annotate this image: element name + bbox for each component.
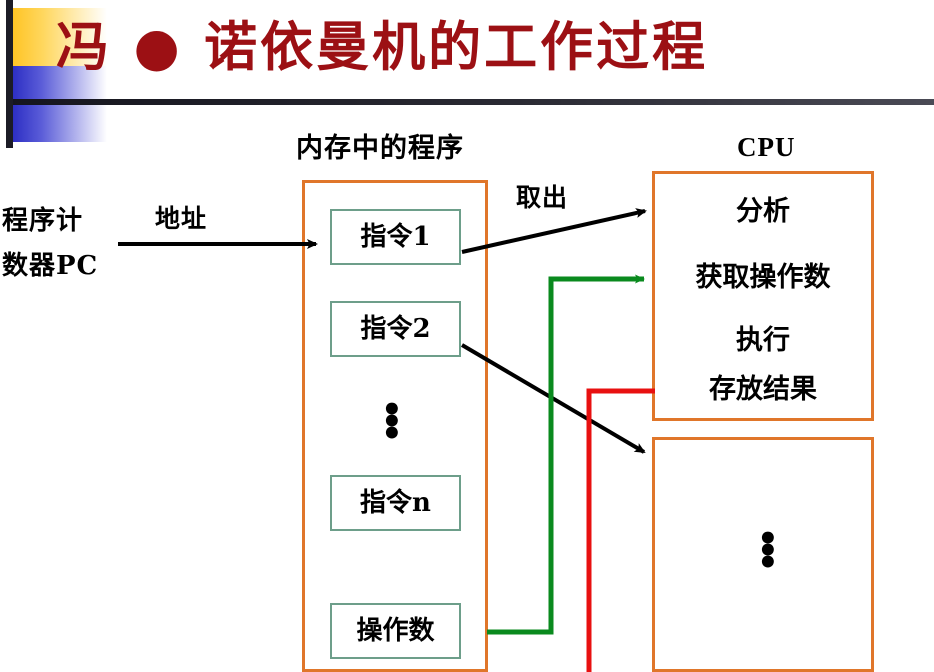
cpu-step-fetch-operand: 获取操作数 — [652, 255, 874, 294]
memory-cell-operand: 操作数 — [330, 603, 461, 659]
cpu-title-label: CPU — [737, 132, 796, 163]
cpu-step-analyze: 分析 — [652, 189, 874, 228]
program-counter-label-line1: 程序计 — [2, 200, 83, 237]
decoration-horizontal-rule — [6, 99, 934, 105]
slide-title: 冯 ● 诺依曼机的工作过程 — [56, 8, 916, 86]
program-counter-label-line2: 数器PC — [2, 245, 98, 282]
decoration-vertical-bar — [6, 0, 13, 148]
memory-title-label: 内存中的程序 — [296, 126, 464, 165]
memory-cell-instruction-n: 指令n — [330, 475, 461, 531]
arrow-store-result-red — [589, 391, 655, 672]
memory-ellipsis-icon: ••• — [381, 404, 395, 440]
fetch-arrow-label: 取出 — [516, 178, 568, 214]
arrow-instruction2-to-storage — [462, 345, 644, 452]
arrow-operand-to-cpu — [487, 279, 644, 632]
memory-cell-instruction-1: 指令1 — [330, 209, 461, 265]
memory-cell-instruction-2: 指令2 — [330, 301, 461, 357]
arrow-fetch-instruction-to-cpu — [462, 211, 645, 252]
address-arrow-label: 地址 — [155, 199, 207, 235]
cpu-step-execute: 执行 — [652, 318, 874, 357]
result-storage-ellipsis-icon: ••• — [757, 533, 771, 569]
slide-canvas: 冯 ● 诺依曼机的工作过程 内存中的程序 CPU 程序计 数器PC 地址 取出 … — [0, 0, 934, 672]
cpu-step-store-result: 存放结果 — [652, 367, 874, 406]
